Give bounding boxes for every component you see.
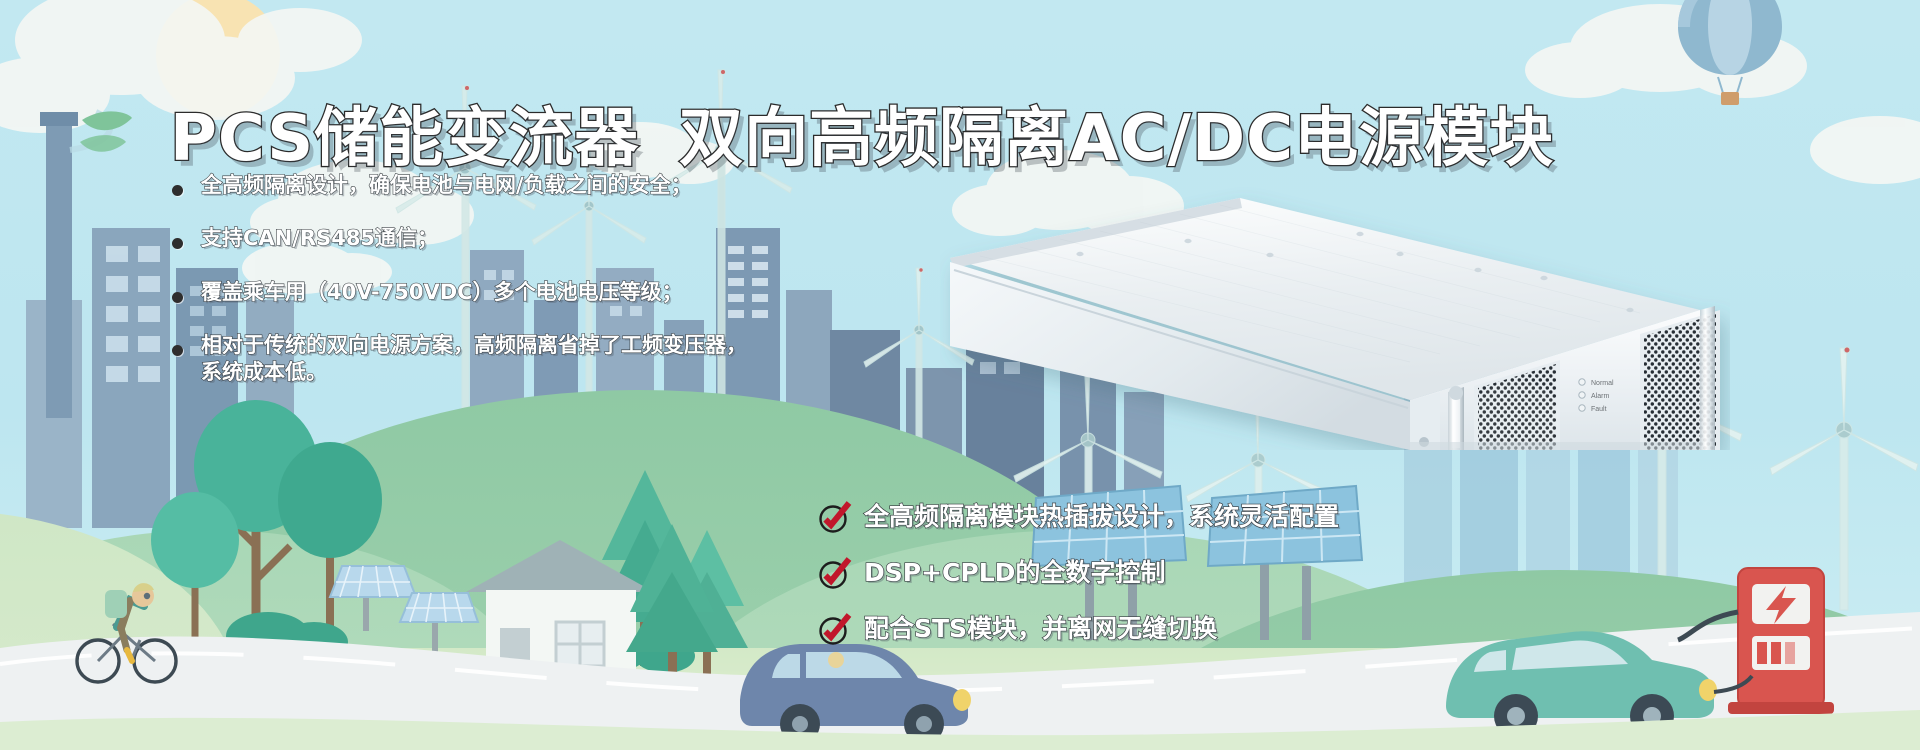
mounting-ear [1410,392,1440,450]
title-part-left: PCS储能变流器 [170,102,639,176]
led-label-fault: Fault [1591,406,1607,413]
check-circle-icon [818,556,852,590]
bullet-dot-icon [172,185,183,196]
led-label-alarm: Alarm [1591,393,1609,400]
check-circle-icon [818,500,852,534]
list-item: 相对于传统的双向电源方案，高频隔离省掉了工频变压器， 系统成本低。 [172,332,892,387]
highlight-text: 全高频隔离模块热插拔设计，系统灵活配置 [864,502,1339,532]
highlight-text: 配合STS模块，并离网无缝切换 [864,614,1217,644]
list-item: 全高频隔离模块热插拔设计，系统灵活配置 [818,500,1339,534]
bullet-dot-icon [172,292,183,303]
feature-text: 支持CAN/RS485通信； [201,225,438,252]
list-item: 覆盖乘车用（40V-750VDC）多个电池电压等级； [172,279,892,306]
feature-text: 相对于传统的双向电源方案，高频隔离省掉了工频变压器， 系统成本低。 [201,332,747,387]
led-label-normal: Normal [1591,380,1614,387]
feature-text: 全高频隔离设计，确保电池与电网/负载之间的安全； [201,172,692,199]
list-item: DSP+CPLD的全数字控制 [818,556,1339,590]
battery-icon [1752,636,1810,670]
list-item: 配合STS模块，并离网无缝切换 [818,612,1339,646]
promo-banner: Normal Alarm Fault [0,0,1920,750]
pcs-power-module: Normal Alarm Fault [940,150,1730,450]
device-handle [1448,386,1464,450]
device-handle-right [1700,306,1715,450]
highlight-text: DSP+CPLD的全数字控制 [864,558,1165,588]
bullet-dot-icon [172,345,183,356]
title-part-right: 双向高频隔离AC/DC电源模块 [679,102,1554,176]
list-item: 支持CAN/RS485通信； [172,225,892,252]
page-title: PCS储能变流器双向高频隔离AC/DC电源模块 [170,105,1554,174]
bullet-dot-icon [172,238,183,249]
list-item: 全高频隔离设计，确保电池与电网/负载之间的安全； [172,172,892,199]
feature-list: 全高频隔离设计，确保电池与电网/负载之间的安全； 支持CAN/RS485通信； … [172,172,892,412]
highlight-list: 全高频隔离模块热插拔设计，系统灵活配置 DSP+CPLD的全数字控制 配合STS… [818,500,1339,668]
feature-text: 覆盖乘车用（40V-750VDC）多个电池电压等级； [201,279,683,306]
check-circle-icon [818,612,852,646]
house-window [556,622,604,666]
